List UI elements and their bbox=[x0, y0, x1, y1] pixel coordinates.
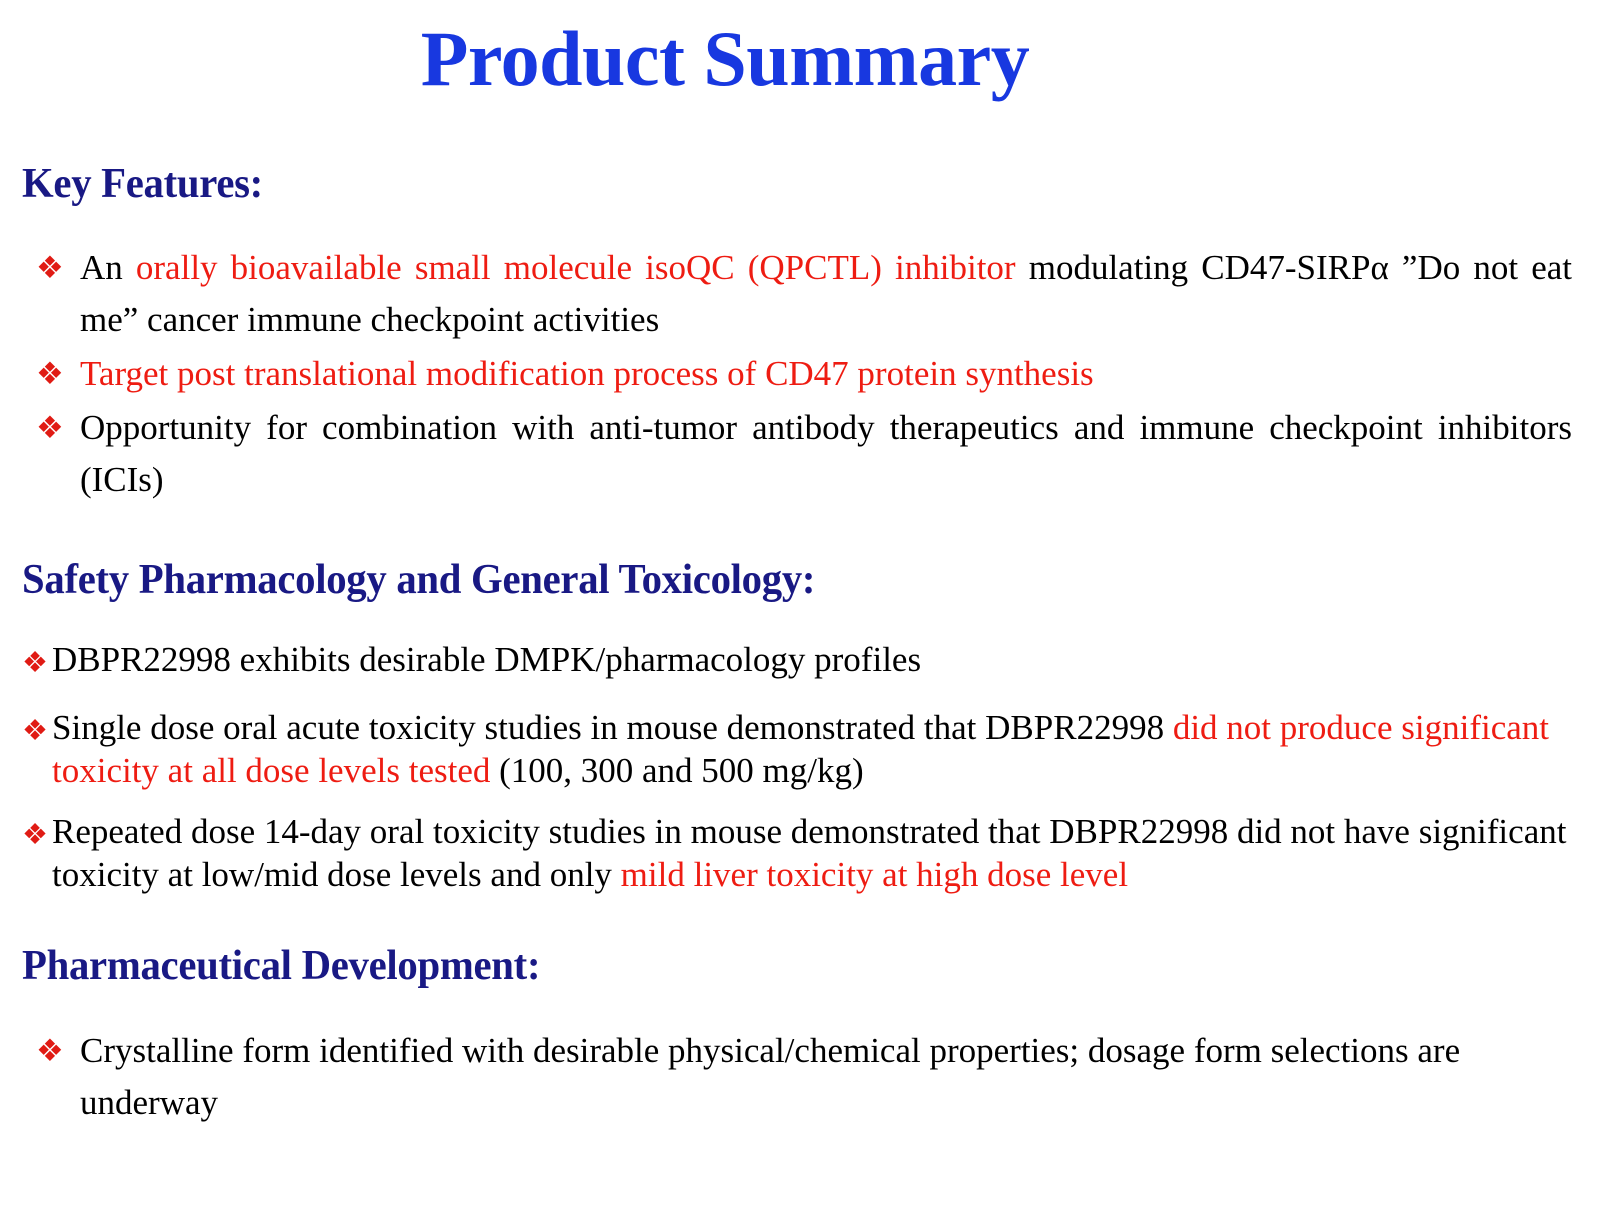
list-item-text: Single dose oral acute toxicity studies … bbox=[52, 706, 1578, 792]
text-segment-highlight: Target post translational modification p… bbox=[80, 354, 1094, 393]
diamond-bullet-icon: ❖ bbox=[22, 242, 80, 294]
safety-pharmacology-list: ❖ DBPR22998 exhibits desirable DMPK/phar… bbox=[22, 638, 1578, 896]
text-segment: An bbox=[80, 248, 136, 287]
list-item-text: An orally bioavailable small molecule is… bbox=[80, 242, 1578, 346]
list-item: ❖ Target post translational modification… bbox=[22, 348, 1578, 400]
text-segment: DBPR22998 exhibits desirable DMPK/pharma… bbox=[52, 640, 921, 679]
list-item-text: Opportunity for combination with anti-tu… bbox=[80, 402, 1578, 506]
diamond-bullet-icon: ❖ bbox=[22, 706, 52, 756]
text-segment: (100, 300 and 500 mg/kg) bbox=[490, 751, 863, 790]
diamond-bullet-icon: ❖ bbox=[22, 638, 52, 688]
slide-canvas: Product Summary Key Features: ❖ An orall… bbox=[0, 18, 1600, 1218]
list-item: ❖ Crystalline form identified with desir… bbox=[22, 1025, 1578, 1129]
pharmaceutical-development-list: ❖ Crystalline form identified with desir… bbox=[22, 1025, 1578, 1129]
diamond-bullet-icon: ❖ bbox=[22, 348, 80, 400]
section-heading-safety-pharmacology: Safety Pharmacology and General Toxicolo… bbox=[22, 558, 1531, 603]
list-item: ❖ Opportunity for combination with anti-… bbox=[22, 402, 1578, 506]
diamond-bullet-icon: ❖ bbox=[22, 402, 80, 454]
section-heading-pharmaceutical-development: Pharmaceutical Development: bbox=[22, 944, 1531, 989]
list-item-text: Target post translational modification p… bbox=[80, 348, 1578, 400]
diamond-bullet-icon: ❖ bbox=[22, 1025, 80, 1077]
list-item: ❖ An orally bioavailable small molecule … bbox=[22, 242, 1578, 346]
section-heading-key-features: Key Features: bbox=[22, 162, 1531, 207]
list-item: ❖ Repeated dose 14-day oral toxicity stu… bbox=[22, 810, 1578, 896]
text-segment: Crystalline form identified with desirab… bbox=[80, 1031, 1460, 1122]
list-item-text: Repeated dose 14-day oral toxicity studi… bbox=[52, 810, 1578, 896]
list-item-text: Crystalline form identified with desirab… bbox=[80, 1025, 1578, 1129]
list-item-text: DBPR22998 exhibits desirable DMPK/pharma… bbox=[52, 638, 1578, 681]
text-segment-highlight: orally bioavailable small molecule isoQC… bbox=[136, 248, 1016, 287]
list-item: ❖ Single dose oral acute toxicity studie… bbox=[22, 706, 1578, 792]
diamond-bullet-icon: ❖ bbox=[22, 810, 52, 860]
page-title: Product Summary bbox=[22, 18, 1578, 100]
text-segment: Opportunity for combination with anti-tu… bbox=[80, 408, 1572, 499]
list-item: ❖ DBPR22998 exhibits desirable DMPK/phar… bbox=[22, 638, 1578, 688]
text-segment-highlight: mild liver toxicity at high dose level bbox=[621, 855, 1128, 894]
key-features-list: ❖ An orally bioavailable small molecule … bbox=[22, 242, 1578, 506]
text-segment: Single dose oral acute toxicity studies … bbox=[52, 708, 1173, 747]
